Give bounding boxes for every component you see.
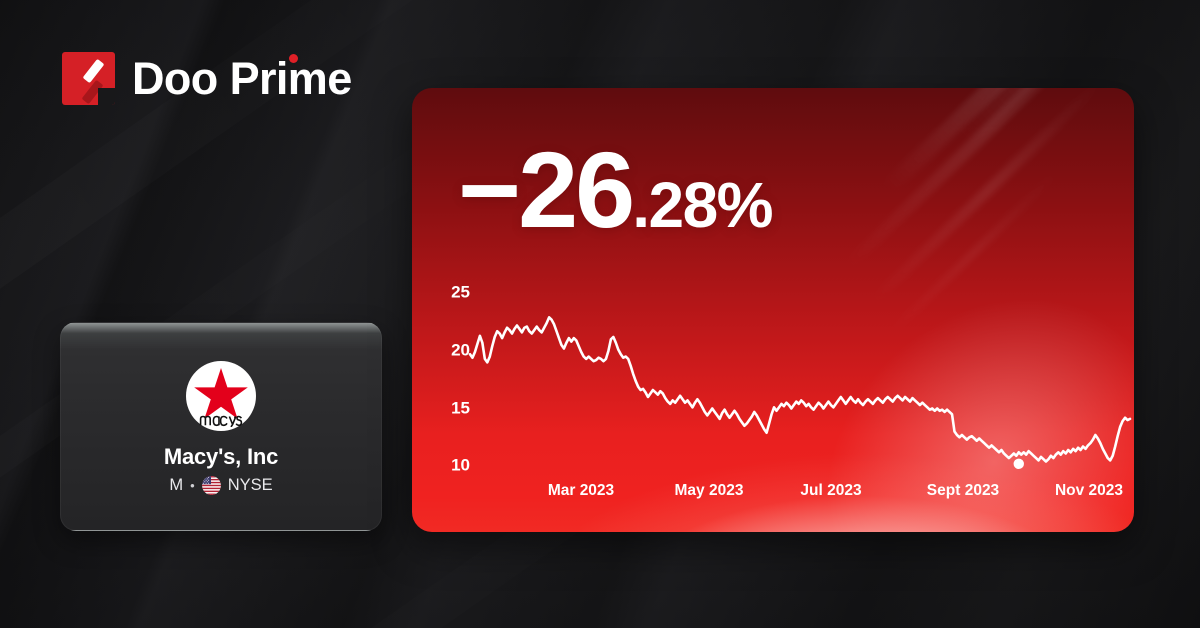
x-tick-label: Sept 2023 — [927, 483, 999, 499]
macys-star-icon — [194, 366, 248, 418]
brand-dot-icon — [289, 54, 298, 63]
brand-logo: Doo Prime — [62, 52, 352, 105]
y-tick-label: 15 — [436, 400, 470, 417]
us-flag-icon — [202, 476, 221, 495]
y-tick-label: 20 — [436, 342, 470, 359]
doo-prime-mark-icon — [62, 52, 115, 105]
ticker-symbol: M — [169, 477, 183, 494]
x-tick-label: Nov 2023 — [1055, 483, 1123, 499]
price-line-chart — [412, 88, 1134, 532]
x-tick-label: Mar 2023 — [548, 483, 614, 499]
poster-canvas: Doo Prime Macy's, In — [0, 0, 1200, 628]
y-tick-label: 25 — [436, 284, 470, 301]
mark-slash-white — [83, 59, 105, 83]
ticker-meta: M • — [169, 476, 272, 495]
mark-notch — [98, 88, 115, 105]
ticker-card[interactable]: Macy's, Inc M • — [60, 322, 382, 531]
current-price-marker — [1014, 459, 1024, 469]
brand-name: Doo Prime — [132, 56, 352, 101]
exchange-name: NYSE — [228, 477, 273, 494]
meta-separator: • — [190, 479, 195, 492]
macys-wordmark-icon — [199, 414, 243, 427]
price-line-svg — [412, 88, 1134, 532]
y-tick-label: 10 — [436, 457, 470, 474]
macys-logo-icon — [186, 361, 256, 431]
x-tick-label: May 2023 — [675, 483, 744, 499]
performance-chart-card[interactable]: −26 .28% 25 20 15 10 Mar 2023 May 2023 J… — [412, 88, 1134, 532]
x-tick-label: Jul 2023 — [800, 483, 861, 499]
company-name: Macy's, Inc — [164, 445, 278, 469]
